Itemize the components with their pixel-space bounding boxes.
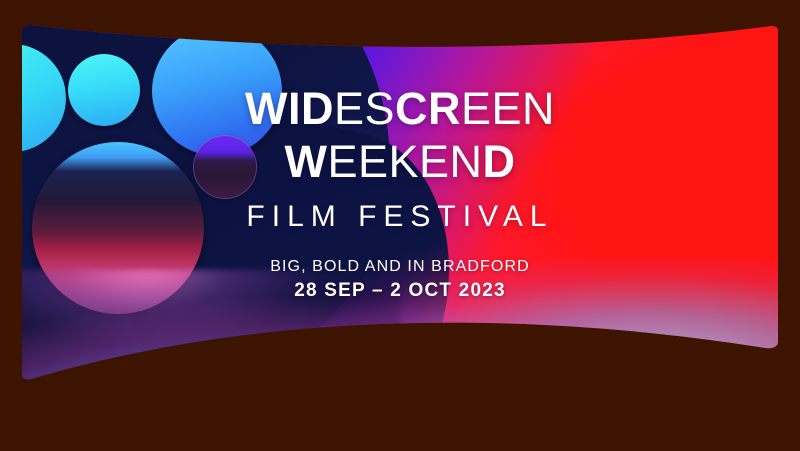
poster-title: WIDESCREEN WEEKEND: [0, 88, 800, 184]
poster-subtitle: FILM FESTIVAL: [0, 200, 800, 234]
festival-poster: WIDESCREEN WEEKEND FILM FESTIVAL BIG, BO…: [0, 0, 800, 400]
title-line-weekend: WEEKEND: [0, 141, 800, 184]
poster-dates: 28 SEP – 2 OCT 2023: [0, 280, 800, 302]
title-weekend-run-1: EEK: [327, 136, 419, 187]
title-widescreen-run-3: EEN: [461, 83, 555, 134]
title-line-widescreen: WIDESCREEN: [0, 88, 800, 131]
poster-tagline: BIG, BOLD AND IN BRADFORD: [0, 258, 800, 276]
poster-canvas: WIDESCREEN WEEKEND FILM FESTIVAL BIG, BO…: [0, 0, 800, 400]
title-widescreen-run-2: CR: [395, 83, 461, 134]
title-weekend-run-2: EN: [419, 136, 483, 187]
title-weekend-run-0: W: [284, 136, 327, 187]
title-widescreen-run-1: ES: [334, 83, 395, 134]
title-widescreen-run-0: WID: [245, 83, 334, 134]
poster-text-content: WIDESCREEN WEEKEND FILM FESTIVAL BIG, BO…: [0, 0, 800, 400]
title-weekend-run-3: D: [483, 136, 516, 187]
